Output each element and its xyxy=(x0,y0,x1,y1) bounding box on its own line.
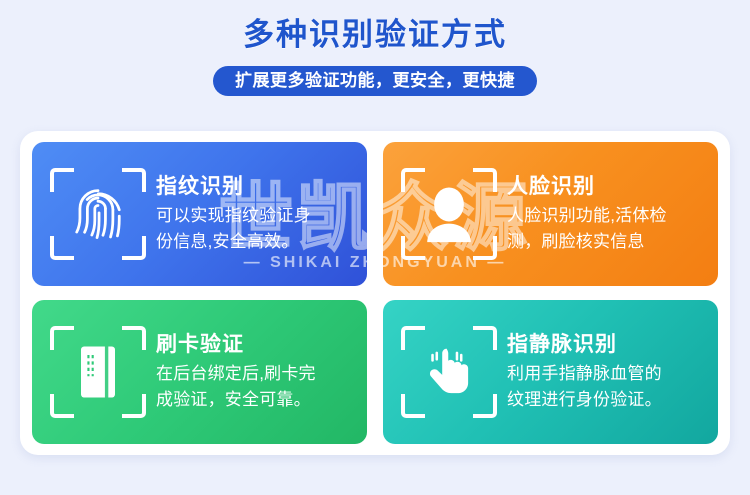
feature-desc-line1: 可以实现指纹验证身 xyxy=(156,203,357,229)
feature-card-fingerprint[interactable]: 指纹识别 可以实现指纹验证身 份信息,安全高效。 xyxy=(32,142,367,286)
feature-desc-line1: 利用手指静脉血管的 xyxy=(507,361,708,387)
feature-desc-line1: 在后台绑定后,刷卡完 xyxy=(156,361,357,387)
card-scan-frame xyxy=(46,320,150,424)
feature-desc-line2: 份信息,安全高效。 xyxy=(156,229,357,255)
feature-text-face: 人脸识别 人脸识别功能,活体检 测，刷脸核实信息 xyxy=(501,173,712,255)
feature-desc-line2: 测，刷脸核实信息 xyxy=(507,229,708,255)
id-card-icon xyxy=(64,338,132,406)
feature-card-card-swipe[interactable]: 刷卡验证 在后台绑定后,刷卡完 成验证，安全可靠。 xyxy=(32,300,367,444)
features-grid: 指纹识别 可以实现指纹验证身 份信息,安全高效。 人脸识别 xyxy=(32,142,718,444)
feature-desc-line1: 人脸识别功能,活体检 xyxy=(507,203,708,229)
feature-desc-line2: 纹理进行身份验证。 xyxy=(507,387,708,413)
face-scan-frame xyxy=(397,162,501,266)
feature-card-finger-vein[interactable]: 指静脉识别 利用手指静脉血管的 纹理进行身份验证。 xyxy=(383,300,718,444)
feature-text-card-swipe: 刷卡验证 在后台绑定后,刷卡完 成验证，安全可靠。 xyxy=(150,331,361,413)
fingerprint-icon xyxy=(64,180,132,248)
feature-title: 人脸识别 xyxy=(507,173,708,201)
subtitle-badge: 扩展更多验证功能，更安全，更快捷 xyxy=(213,66,537,96)
page-header: 多种识别验证方式 扩展更多验证功能，更安全，更快捷 xyxy=(0,0,750,96)
subtitle-container: 扩展更多验证功能，更安全，更快捷 xyxy=(0,66,750,96)
feature-title: 指静脉识别 xyxy=(507,331,708,359)
features-panel: 指纹识别 可以实现指纹验证身 份信息,安全高效。 人脸识别 xyxy=(20,131,730,455)
feature-title: 指纹识别 xyxy=(156,173,357,201)
feature-desc-line2: 成验证，安全可靠。 xyxy=(156,387,357,413)
finger-vein-scan-frame xyxy=(397,320,501,424)
feature-text-finger-vein: 指静脉识别 利用手指静脉血管的 纹理进行身份验证。 xyxy=(501,331,712,413)
pointing-hand-icon xyxy=(415,338,483,406)
page-title: 多种识别验证方式 xyxy=(0,14,750,56)
feature-text-fingerprint: 指纹识别 可以实现指纹验证身 份信息,安全高效。 xyxy=(150,173,361,255)
fingerprint-scan-frame xyxy=(46,162,150,266)
face-person-icon xyxy=(415,180,483,248)
feature-title: 刷卡验证 xyxy=(156,331,357,359)
feature-card-face[interactable]: 人脸识别 人脸识别功能,活体检 测，刷脸核实信息 xyxy=(383,142,718,286)
